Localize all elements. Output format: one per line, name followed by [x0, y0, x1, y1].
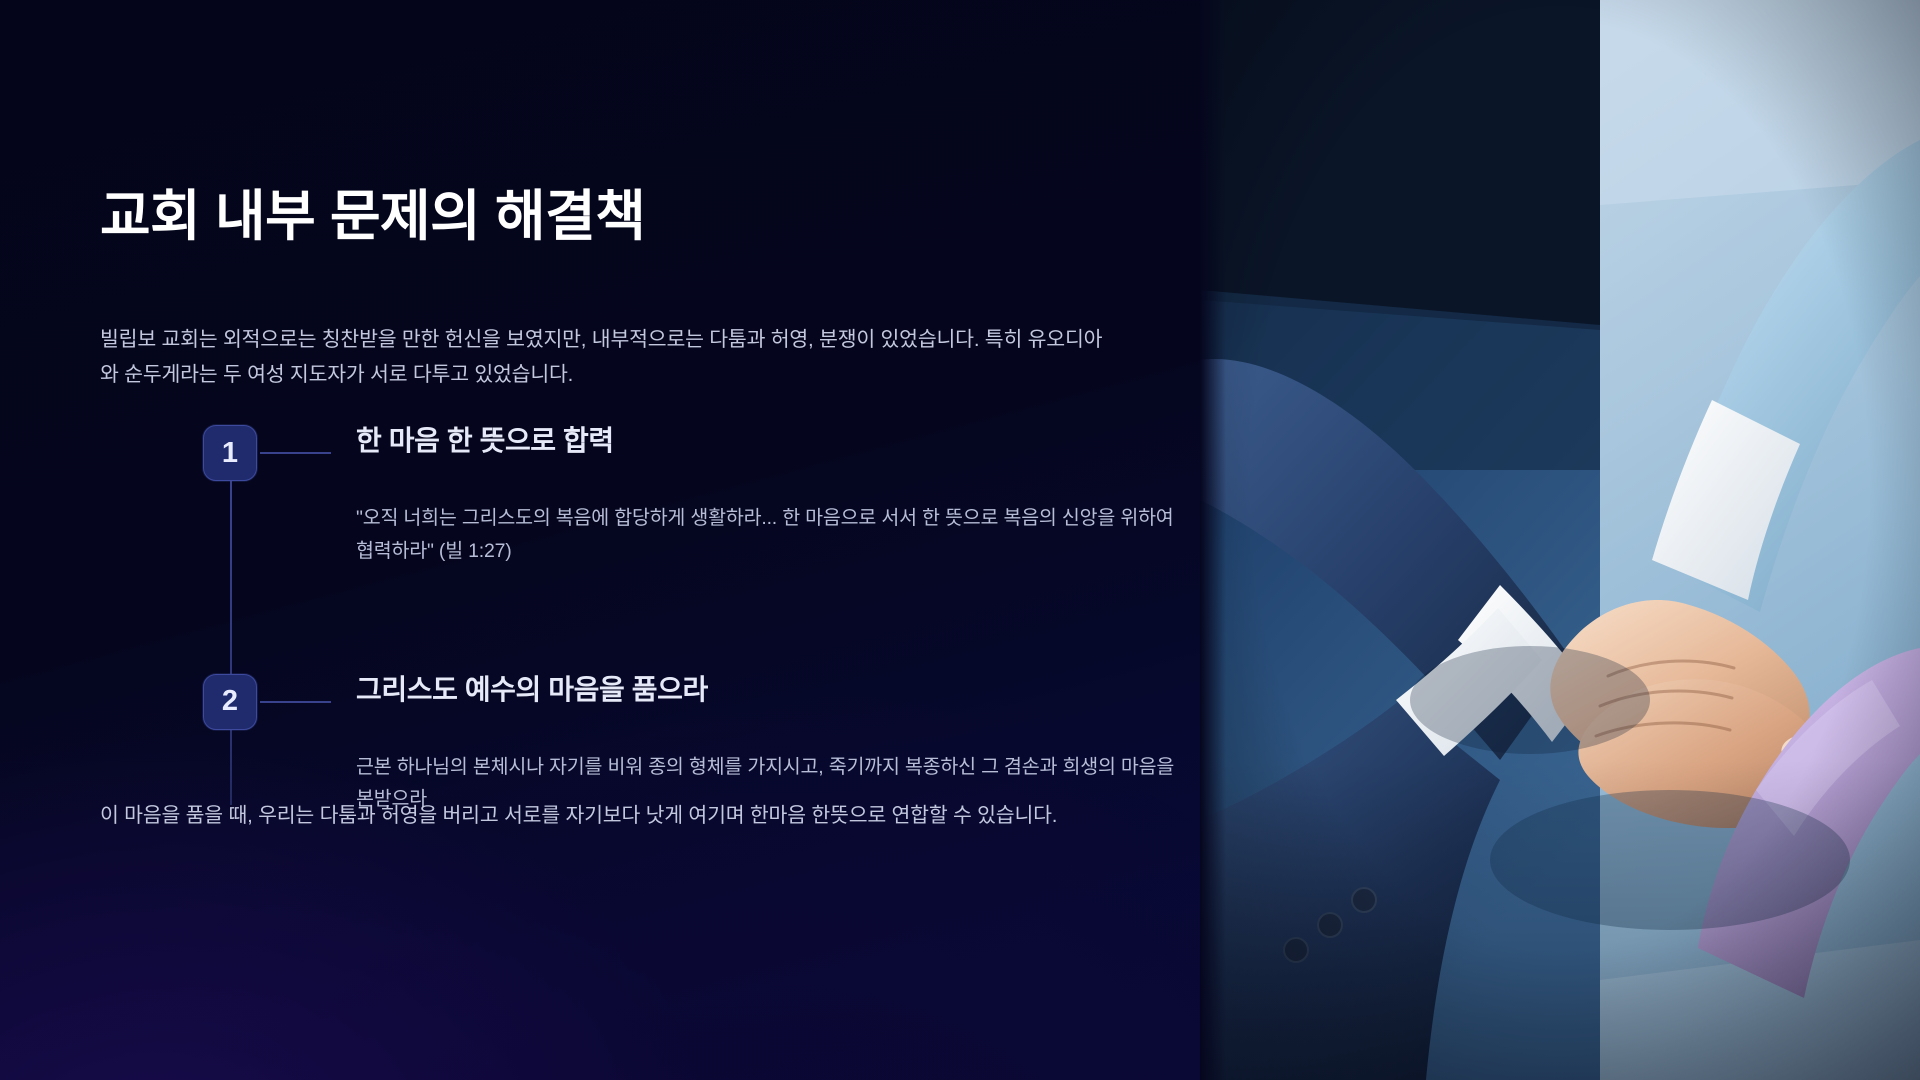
timeline-connector-2 — [260, 701, 331, 703]
timeline-item-1-body: "오직 너희는 그리스도의 복음에 합당하게 생활하라... 한 마음으로 서서… — [356, 481, 1196, 568]
clasped-hands-photo — [1200, 0, 1920, 1080]
timeline-item-1-title: 한 마음 한 뜻으로 합력 — [356, 423, 614, 459]
timeline-item-1-head: 1 한 마음 한 뜻으로 합력 — [100, 425, 1160, 481]
timeline-connector-1 — [260, 452, 331, 454]
step-number-badge-2: 2 — [203, 674, 257, 730]
content-column: 교회 내부 문제의 해결책 빌립보 교회는 외적으로는 칭찬받을 만한 헌신을 … — [100, 0, 1160, 1080]
page-title: 교회 내부 문제의 해결책 — [100, 185, 645, 248]
step-number-1: 1 — [222, 439, 238, 468]
timeline-item-2-title: 그리스도 예수의 마음을 품으라 — [356, 672, 708, 708]
step-number-badge-1: 1 — [203, 425, 257, 481]
step-number-2: 2 — [222, 687, 238, 716]
closing-paragraph: 이 마음을 품을 때, 우리는 다툼과 허영을 버리고 서로를 자기보다 낫게 … — [100, 798, 1110, 833]
timeline-item-2-head: 2 그리스도 예수의 마음을 품으라 — [100, 674, 1160, 730]
clasped-hands-illustration — [1200, 0, 1920, 1080]
intro-paragraph: 빌립보 교회는 외적으로는 칭찬받을 만한 헌신을 보였지만, 내부적으로는 다… — [100, 322, 1105, 393]
timeline: 1 한 마음 한 뜻으로 합력 "오직 너희는 그리스도의 복음에 합당하게 생… — [100, 425, 1160, 816]
timeline-item-2: 2 그리스도 예수의 마음을 품으라 근본 하나님의 본체시나 자기를 비워 종… — [100, 674, 1160, 817]
slide-root: 교회 내부 문제의 해결책 빌립보 교회는 외적으로는 칭찬받을 만한 헌신을 … — [0, 0, 1920, 1080]
timeline-item-1: 1 한 마음 한 뜻으로 합력 "오직 너희는 그리스도의 복음에 합당하게 생… — [100, 425, 1160, 568]
